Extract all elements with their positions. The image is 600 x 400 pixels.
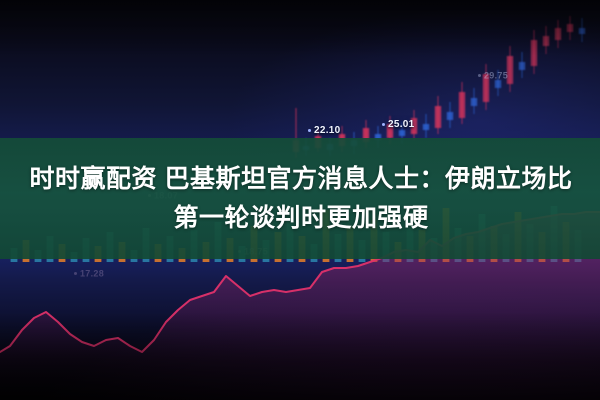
candlestick-series: [293, 16, 585, 158]
price-dot-icon: [74, 272, 77, 275]
price-dot-icon: [308, 129, 311, 132]
price-label-2501: 25.01: [382, 119, 415, 130]
headline-line-1: 时时赢配资 巴基斯坦官方消息人士：伊朗立场比: [28, 160, 573, 199]
price-label-1728: 17.28: [74, 268, 104, 279]
headline-banner-inner: 时时赢配资 巴基斯坦官方消息人士：伊朗立场比 第一轮谈判时更加强硬: [0, 138, 600, 259]
headline-banner: 时时赢配资 巴基斯坦官方消息人士：伊朗立场比 第一轮谈判时更加强硬: [0, 138, 600, 259]
screenshot-root: 18.07 18.75 17.28 29.75 22.10 25.01 时时赢配…: [0, 0, 600, 400]
price-label-2975: 29.75: [478, 70, 508, 81]
price-label-2210: 22.10: [308, 125, 341, 136]
price-dot-icon: [478, 74, 481, 77]
headline-line-2: 第一轮谈判时更加强硬: [171, 199, 428, 238]
price-dot-icon: [382, 123, 385, 126]
